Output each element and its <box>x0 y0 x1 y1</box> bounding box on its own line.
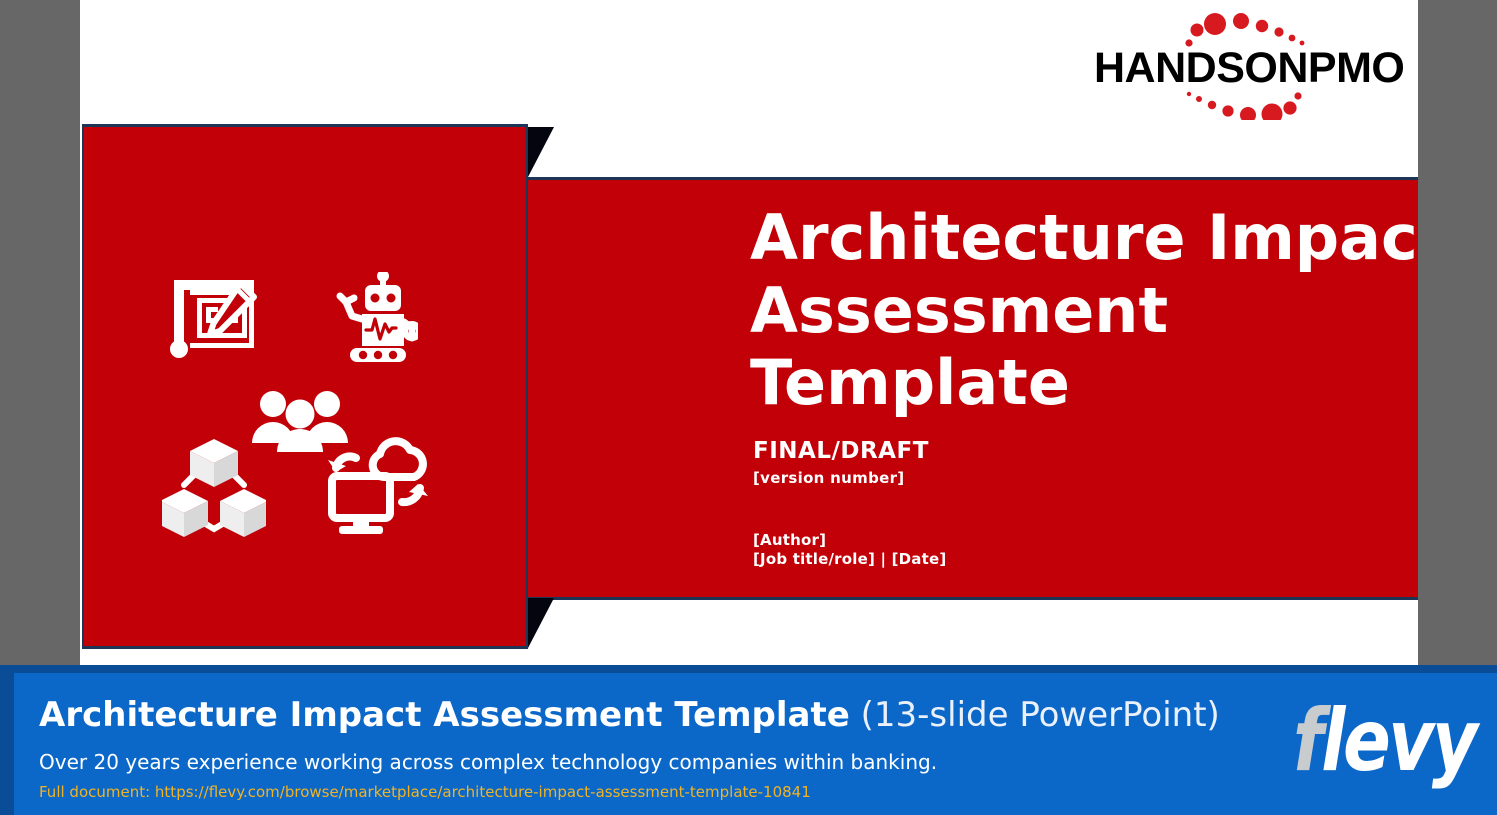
flevy-doc-description: Over 20 years experience working across … <box>39 750 937 774</box>
screenshot-root: HANDSONPMO <box>0 0 1497 815</box>
blueprint-design-icon <box>170 276 262 358</box>
version-label: [version number] <box>753 469 946 487</box>
flevy-banner: Architecture Impact Assessment Template … <box>0 665 1497 815</box>
title-banner: Architecture Impact Assessment Template … <box>528 177 1418 600</box>
page-title: Architecture Impact Assessment Template <box>750 202 1418 420</box>
flevy-doc-format: (13-slide PowerPoint) <box>861 695 1220 735</box>
powerpoint-slide: HANDSONPMO <box>80 0 1418 665</box>
cloud-sync-computer-icon <box>322 432 430 536</box>
author-block: [Author] [Job title/role] | [Date] <box>753 531 946 568</box>
icon-grid <box>162 272 437 547</box>
ribbon-fold-bottom <box>528 598 554 648</box>
robot-automation-icon <box>332 272 418 362</box>
logo-wordmark: HANDSONPMO <box>1094 44 1404 93</box>
flevy-logo-rest: levy <box>1321 691 1475 791</box>
flevy-doc-title-text: Architecture Impact Assessment Template <box>39 695 850 735</box>
status-badge: FINAL/DRAFT <box>753 438 946 464</box>
flevy-doc-title: Architecture Impact Assessment Template … <box>39 695 1220 735</box>
title-meta-block: FINAL/DRAFT [version number] [Author] [J… <box>753 438 946 568</box>
blockchain-nodes-icon <box>162 437 266 541</box>
flevy-doc-url[interactable]: Full document: https://flevy.com/browse/… <box>39 783 811 801</box>
ribbon-fold-top <box>528 127 554 177</box>
handsonpmo-logo: HANDSONPMO <box>1076 8 1416 120</box>
flevy-logo[interactable]: flevy <box>1293 691 1475 791</box>
author-role-date: [Job title/role] | [Date] <box>753 550 946 568</box>
flevy-logo-f: f <box>1293 691 1321 791</box>
author-name: [Author] <box>753 531 946 549</box>
icon-panel <box>82 124 528 649</box>
flevy-banner-inner: Architecture Impact Assessment Template … <box>14 673 1497 815</box>
